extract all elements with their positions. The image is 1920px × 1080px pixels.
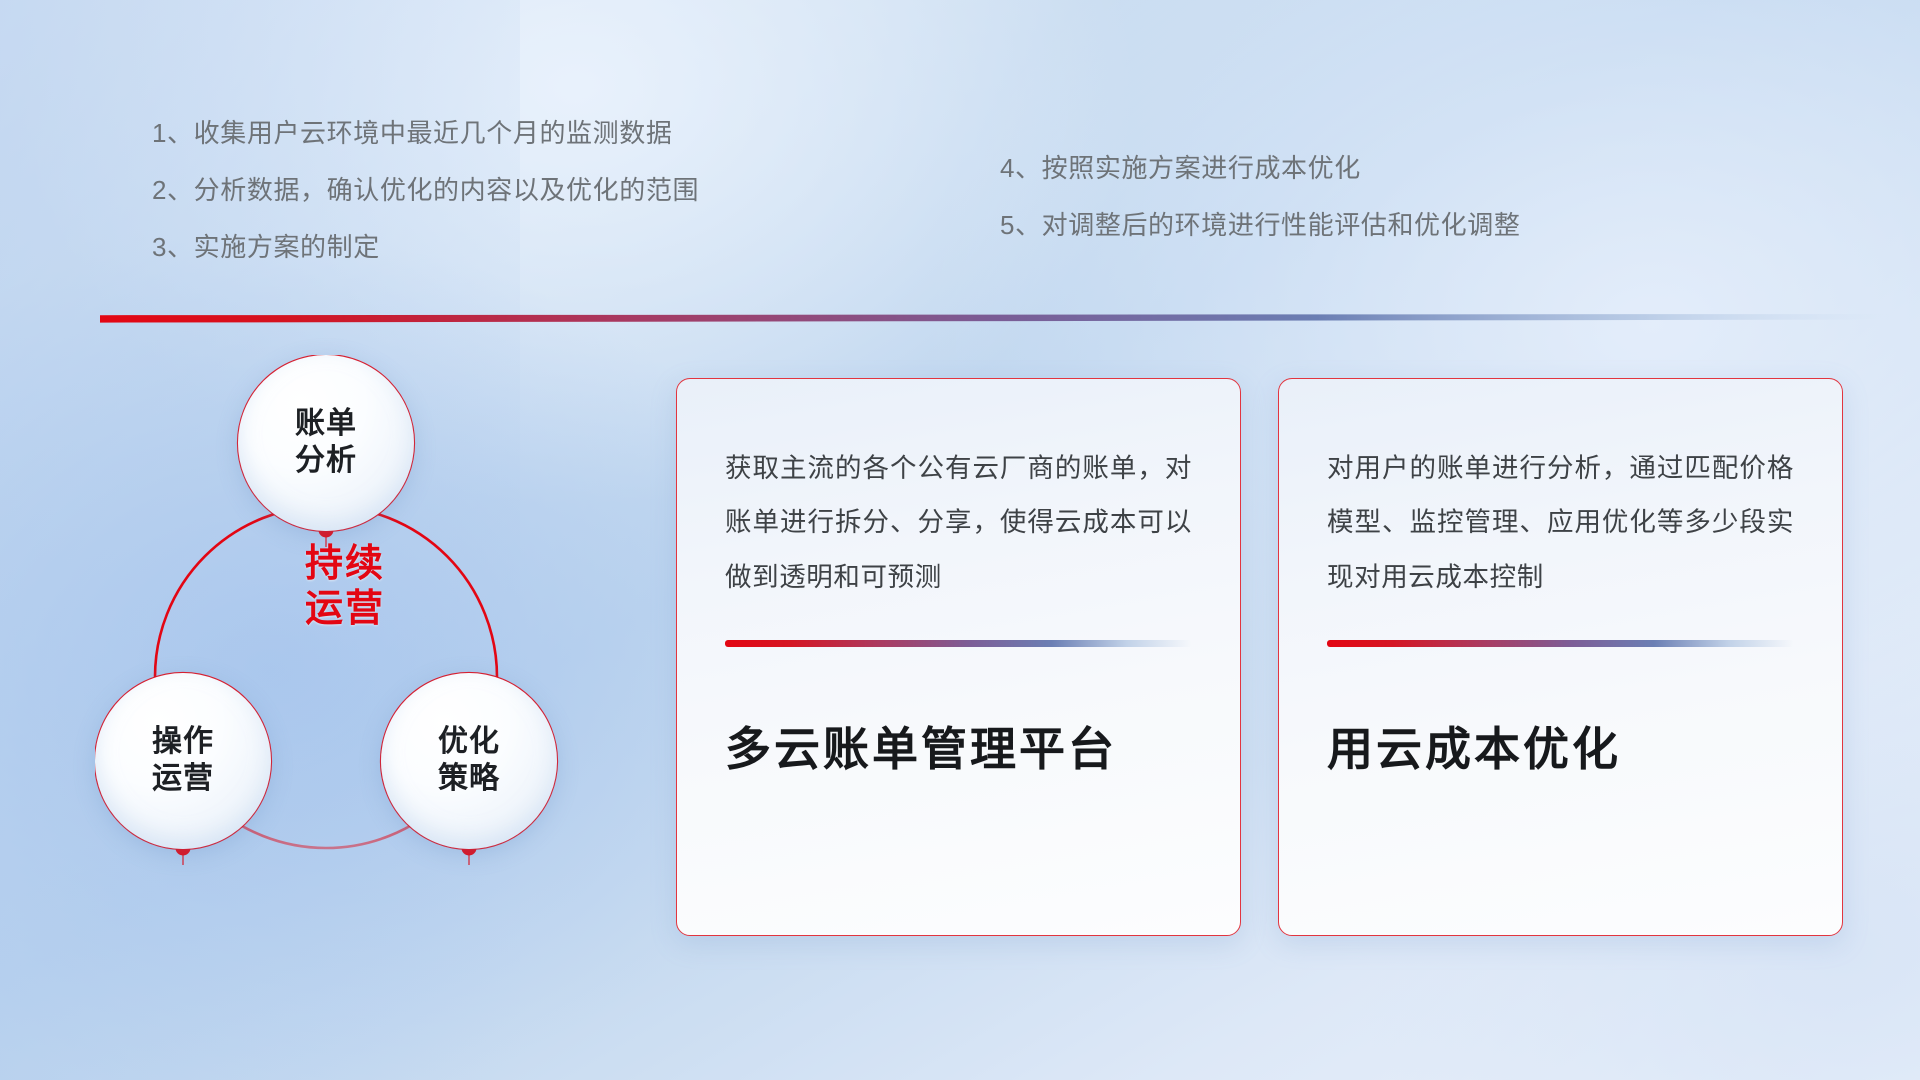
feature-card-cloud-cost-optimization[interactable]: 对用户的账单进行分析，通过匹配价格模型、监控管理、应用优化等多少段实现对用云成本… xyxy=(1278,378,1843,936)
venn-bubble-left-line2: 运营 xyxy=(152,761,214,798)
venn-center-label: 持续 运营 xyxy=(255,542,435,632)
venn-center-label-line1: 持续 xyxy=(255,542,435,587)
venn-bubble-top-line2: 分析 xyxy=(295,443,357,480)
step-item-3: 3、实施方案的制定 xyxy=(152,234,699,260)
step-item-1: 1、收集用户云环境中最近几个月的监测数据 xyxy=(152,120,699,146)
venn-bubble-operations[interactable]: 操作 运营 xyxy=(95,673,271,849)
card-2-body: 对用户的账单进行分析，通过匹配价格模型、监控管理、应用优化等多少段实现对用云成本… xyxy=(1327,441,1794,604)
step-item-2: 2、分析数据，确认优化的内容以及优化的范围 xyxy=(152,177,699,203)
venn-bubble-bill-analysis[interactable]: 账单 分析 xyxy=(238,355,414,531)
step-item-5: 5、对调整后的环境进行性能评估和优化调整 xyxy=(1000,212,1520,238)
step-item-4: 4、按照实施方案进行成本优化 xyxy=(1000,155,1520,181)
venn-bubble-top-line1: 账单 xyxy=(295,406,357,443)
card-2-title: 用云成本优化 xyxy=(1327,713,1794,779)
section-divider-rule xyxy=(100,314,1890,323)
steps-right-column: 4、按照实施方案进行成本优化 5、对调整后的环境进行性能评估和优化调整 xyxy=(1000,155,1520,238)
continuous-operations-diagram: 持续 运营 账单 分析 操作 运营 优化 策略 xyxy=(95,355,635,945)
venn-bubble-left-line1: 操作 xyxy=(152,724,214,761)
card-1-body: 获取主流的各个公有云厂商的账单，对账单进行拆分、分享，使得云成本可以做到透明和可… xyxy=(725,441,1192,604)
venn-bubble-right-line1: 优化 xyxy=(438,724,500,761)
card-1-title: 多云账单管理平台 xyxy=(725,713,1192,779)
slide-canvas: 1、收集用户云环境中最近几个月的监测数据 2、分析数据，确认优化的内容以及优化的… xyxy=(0,0,1920,1080)
card-2-divider xyxy=(1327,640,1794,647)
venn-bubble-optimization-strategy[interactable]: 优化 策略 xyxy=(381,673,557,849)
steps-left-column: 1、收集用户云环境中最近几个月的监测数据 2、分析数据，确认优化的内容以及优化的… xyxy=(152,120,699,260)
feature-card-multicloud-billing[interactable]: 获取主流的各个公有云厂商的账单，对账单进行拆分、分享，使得云成本可以做到透明和可… xyxy=(676,378,1241,936)
venn-center-label-line2: 运营 xyxy=(255,587,435,632)
card-1-divider xyxy=(725,640,1192,647)
venn-bubble-right-line2: 策略 xyxy=(438,761,500,798)
